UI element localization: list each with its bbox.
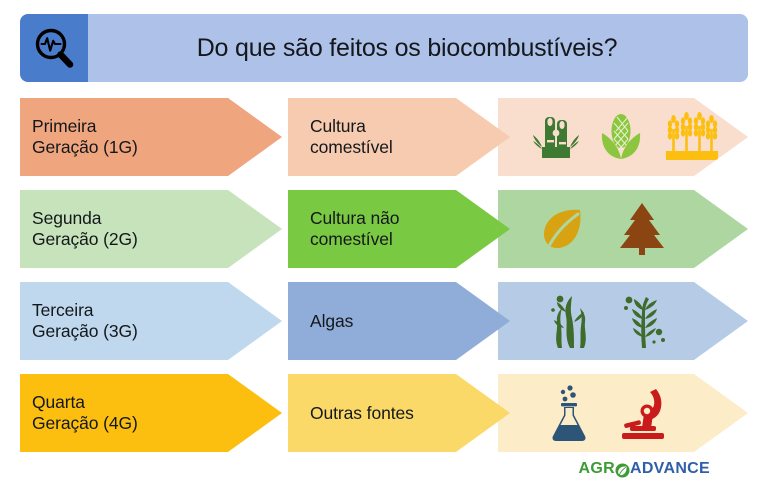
icon-panel <box>498 282 748 360</box>
generation-segment: Primeira Geração (1G) <box>20 98 282 176</box>
header-banner: Do que são feitos os biocombustíveis? <box>20 14 748 82</box>
generation-segment: Terceira Geração (3G) <box>20 282 282 360</box>
flask-icon <box>546 384 592 442</box>
generation-segment: Quarta Geração (4G) <box>20 374 282 452</box>
brand-logo: AGR ADVANCE <box>579 460 711 478</box>
source-label: Algas <box>310 311 353 332</box>
source-segment: Algas <box>288 282 510 360</box>
generation-row: Cultura comestível Primeira Geração (1G) <box>20 98 748 176</box>
leaf-icon <box>538 204 588 254</box>
source-label: Cultura comestível <box>310 116 393 158</box>
source-label: Cultura não comestível <box>310 208 399 250</box>
source-segment: Cultura não comestível <box>288 190 510 268</box>
generation-segment: Segunda Geração (2G) <box>20 190 282 268</box>
generation-row: Cultura não comestível Segunda Geração (… <box>20 190 748 268</box>
generation-row: Outras fontes Quarta Geração (4G) <box>20 374 748 452</box>
icon-panel <box>498 374 748 452</box>
magnifier-pulse-icon <box>32 26 76 70</box>
algae-frond-icon <box>618 292 670 350</box>
icon-panel <box>498 98 748 176</box>
source-segment: Outras fontes <box>288 374 510 452</box>
page-title: Do que são feitos os biocombustíveis? <box>197 34 618 63</box>
logo-text-advance: ADVANCE <box>630 460 710 478</box>
corn-icon <box>598 111 644 163</box>
header-icon-box <box>20 14 88 82</box>
generation-label: Primeira Geração (1G) <box>32 116 138 158</box>
seaweed-icon <box>544 292 600 350</box>
generation-label: Terceira Geração (3G) <box>32 300 138 342</box>
generation-label: Quarta Geração (4G) <box>32 392 138 434</box>
microscope-icon <box>616 385 670 441</box>
generation-row: Algas Terceira Geração (3G) <box>20 282 748 360</box>
leaf-circle-icon <box>615 463 630 478</box>
source-segment: Cultura comestível <box>288 98 510 176</box>
source-label: Outras fontes <box>310 403 414 424</box>
icon-panel <box>498 190 748 268</box>
header-title-bar: Do que são feitos os biocombustíveis? <box>88 14 748 82</box>
wheat-icon <box>662 111 722 163</box>
logo-text-agro: AGR <box>579 460 615 478</box>
generation-label: Segunda Geração (2G) <box>32 208 138 250</box>
sugarcane-icon <box>532 111 580 163</box>
pine-tree-icon <box>616 201 668 257</box>
